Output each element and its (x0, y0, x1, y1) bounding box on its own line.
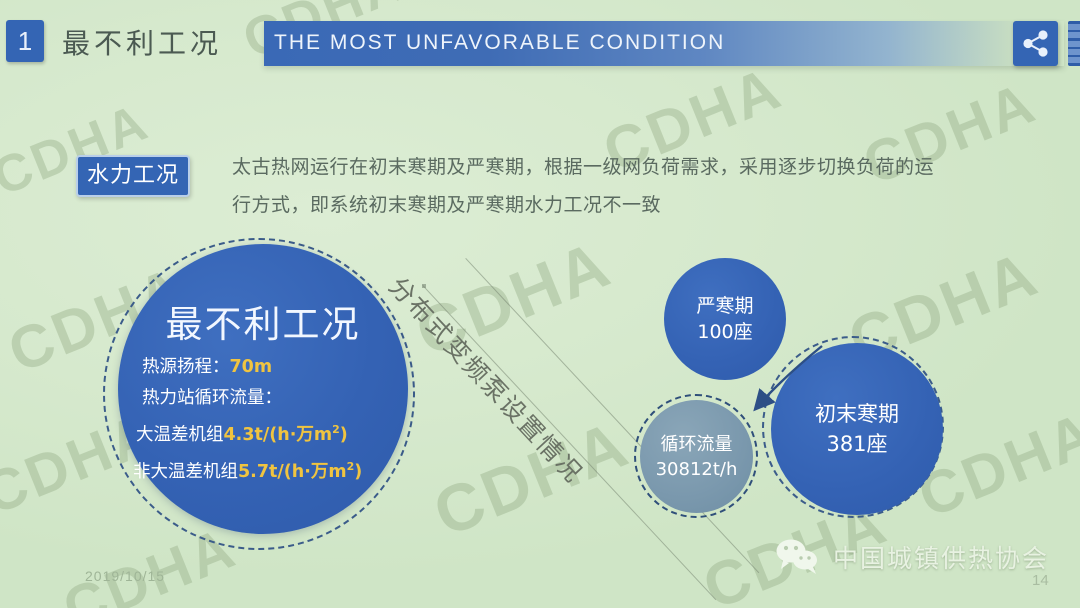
large-dt-unit-exponent: 2 (332, 423, 340, 436)
large-dt-unit-label: 大温差机组 (136, 425, 224, 445)
non-large-dt-unit-tail: ) (354, 462, 362, 482)
station-flow-label: 热力站循环流量： (142, 388, 282, 408)
slide-canvas: CDHA CDHA CDHA CDHA CDHA CDHA CDHA CDHA … (0, 0, 1080, 608)
non-large-dt-unit-value: 5.7t/(h·万m (238, 462, 347, 482)
large-dt-unit-value: 4.3t/(h·万m (224, 425, 333, 445)
page-title-english: THE MOST UNFAVORABLE CONDITION (274, 31, 725, 55)
stacked-list-icon (1068, 57, 1080, 63)
non-large-dt-unit-label: 非大温差机组 (133, 462, 238, 482)
organization-name: 中国城镇供热协会 (833, 539, 1049, 575)
main-circle-details: 热源扬程：70m 热力站循环流量： 大温差机组4.3t/(h·万m2) 非大温差… (120, 352, 412, 488)
stacked-list-icon (1068, 24, 1080, 30)
share-icon (1013, 21, 1058, 66)
main-detail-row-1: 热源扬程：70m (120, 352, 412, 383)
slide-date: 2019/10/15 (85, 568, 165, 584)
stacked-list-icon (1068, 32, 1080, 38)
early-late-cold-value: 381座 (826, 429, 887, 459)
main-detail-row-3: 大温差机组4.3t/(h·万m2) (120, 414, 412, 451)
wechat-icon (775, 538, 821, 576)
slide-header: 1 最不利工况 THE MOST UNFAVORABLE CONDITION (0, 0, 1080, 88)
section-number-badge: 1 (6, 20, 44, 62)
large-dt-unit-tail: ) (340, 425, 348, 445)
head-pressure-label: 热源扬程： (142, 357, 230, 377)
main-circle-heading: 最不利工况 (118, 294, 408, 348)
share-button[interactable] (1013, 21, 1058, 66)
page-number: 14 (1032, 572, 1049, 589)
main-detail-row-2: 热力站循环流量： (120, 383, 412, 414)
stacked-list-icon (1068, 41, 1080, 47)
stacked-list-button[interactable] (1068, 21, 1080, 66)
flow-arrow (700, 340, 830, 450)
stacked-list-icon (1068, 49, 1080, 55)
main-detail-row-4: 非大温差机组5.7t/(h·万m2) (120, 451, 412, 488)
wechat-footer: 中国城镇供热协会 (775, 538, 1049, 576)
section-paragraph: 太古热网运行在初末寒期及严寒期，根据一级网负荷需求，采用逐步切换负荷的运行方式，… (232, 148, 952, 224)
severe-cold-label: 严寒期 (696, 293, 753, 319)
head-pressure-value: 70m (230, 357, 273, 377)
page-title-chinese: 最不利工况 (62, 22, 222, 62)
circulation-flow-value: 30812t/h (656, 457, 738, 482)
section-badge: 水力工况 (76, 155, 190, 197)
